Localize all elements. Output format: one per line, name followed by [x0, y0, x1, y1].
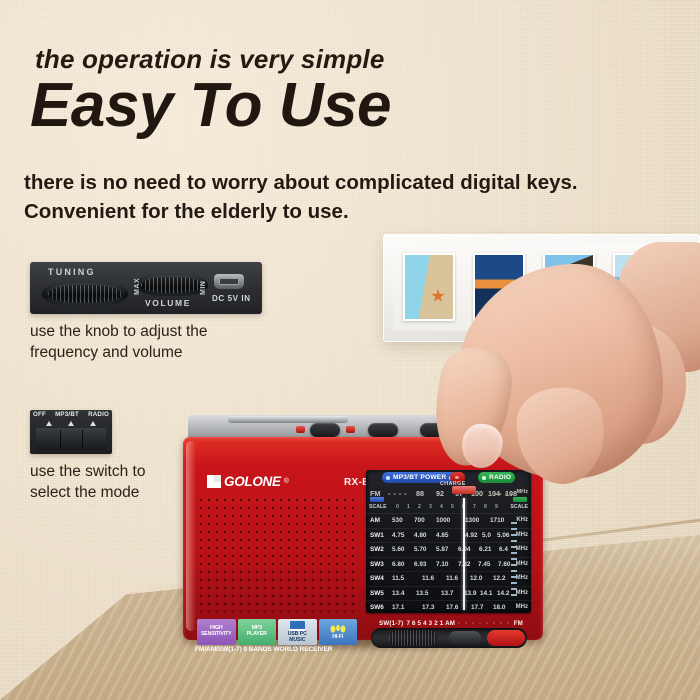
dc-power-port[interactable] — [214, 274, 244, 289]
band-value: 11.5 — [392, 575, 404, 582]
top-button-1[interactable] — [310, 423, 340, 437]
band-name: SW6 — [370, 604, 384, 611]
mode-switch-slider[interactable] — [36, 428, 106, 450]
band-value: 5.0 — [482, 532, 491, 539]
callout-knob-caption: use the knob to adjust the frequency and… — [30, 322, 280, 364]
band-value: 6.21 — [479, 546, 491, 553]
band-name: SW3 — [370, 561, 384, 568]
band-name: AM — [370, 517, 380, 524]
band-value: 5.87 — [436, 546, 448, 553]
badge-line-2: SENSITIVITY — [201, 632, 232, 638]
switch-tick-icon — [46, 421, 52, 426]
band-value: 5.70 — [414, 546, 426, 553]
band-value: 11.6 — [422, 575, 434, 582]
tuning-knob[interactable] — [42, 282, 128, 306]
switch-label-radio: RADIO — [88, 411, 109, 418]
band-selector-track[interactable] — [371, 628, 527, 648]
badge-line-1: HI-FI — [332, 635, 343, 641]
callout-mode-switch: OFF MP3/BT RADIO — [30, 410, 112, 454]
band-value: 13.7 — [441, 590, 453, 597]
band-name: SW1 — [370, 532, 384, 539]
band-name: SW2 — [370, 546, 384, 553]
selector-sw-label: SW(1-7) — [379, 620, 403, 627]
bt-led-icon — [386, 476, 390, 480]
band-value: 6.4 — [499, 546, 508, 553]
top-button-2[interactable] — [368, 423, 398, 437]
band-row: SW1 4.75 4.80 4.85 4.92 5.0 5.06 MHz — [366, 528, 531, 543]
volume-label: VOLUME — [145, 298, 191, 308]
band-value: 14.1 — [480, 590, 492, 597]
selector-positions: 7 6 5 4 3 2 1 AM — [406, 620, 455, 627]
body-line-1: there is no need to worry about complica… — [24, 168, 624, 197]
band-value: 17.6 — [446, 604, 458, 611]
band-row: SW6 17.1 17.3 17.6 17.7 18.0 MHz — [366, 600, 531, 613]
band-row: SW4 11.5 11.6 11.6 12.0 12.2 MHz — [366, 571, 531, 586]
selector-dots: · · · · · · · · — [458, 620, 511, 627]
scale-label-left: SCALE — [369, 504, 387, 510]
band-value: 17.7 — [471, 604, 483, 611]
switch-tick-icon — [68, 421, 74, 426]
band-value: 13.9 — [464, 590, 476, 597]
band-value: 5.06 — [497, 532, 509, 539]
badge-high-sensitivity: HIGH SENSITIVITY — [197, 619, 236, 645]
band-unit: MHz — [516, 546, 528, 552]
band-unit: MHz — [516, 604, 528, 610]
switch-tick-marks — [44, 421, 98, 427]
band-value: 7.45 — [478, 561, 490, 568]
antenna[interactable] — [228, 416, 348, 423]
badge-line-2: PLAYER — [247, 632, 267, 638]
scale-num-0: 0 — [396, 504, 399, 510]
top-led-right — [346, 426, 355, 433]
badge-usb-pc-music: USB PC MUSIC — [278, 619, 317, 645]
band-unit: MHz — [516, 575, 528, 581]
dc-in-label: DC 5V IN — [212, 294, 251, 303]
sound-wave-icon — [329, 623, 347, 634]
badge-line-2: MUSIC — [289, 638, 305, 644]
band-value: 4.80 — [414, 532, 426, 539]
band-unit: MHz — [516, 561, 528, 567]
band-value: 11.6 — [446, 575, 458, 582]
band-value: 7.60 — [498, 561, 510, 568]
brand-name: GOLONE — [224, 474, 281, 489]
band-value: 6.93 — [414, 561, 426, 568]
band-selector-scale: SW(1-7) 7 6 5 4 3 2 1 AM · · · · · · · ·… — [379, 618, 529, 628]
band-value: 4.75 — [392, 532, 404, 539]
band-value: 6.80 — [392, 561, 404, 568]
speaker-grille — [195, 494, 358, 612]
headline-body: there is no need to worry about complica… — [24, 168, 624, 226]
product-description-strip: FM/AM/SW(1-7) 9 BANDS WORLD RECEIVER — [195, 646, 375, 653]
band-name: SW4 — [370, 575, 384, 582]
band-value: 5.60 — [392, 546, 404, 553]
headline-title: Easy To Use — [30, 75, 391, 137]
switch-position-labels: OFF MP3/BT RADIO — [30, 411, 112, 418]
band-row: SW2 5.60 5.70 5.87 6.04 6.21 6.4 MHz — [366, 542, 531, 557]
band-value: 14.2 — [497, 590, 509, 597]
switch-tick-icon — [90, 421, 96, 426]
band-value: 17.1 — [392, 604, 404, 611]
band-value: 18.0 — [493, 604, 505, 611]
registered-mark: ® — [284, 478, 289, 485]
knob-caption-line-1: use the knob to adjust the — [30, 322, 280, 343]
body-line-2: Convenient for the elderly to use. — [24, 197, 624, 226]
band-value: 4.85 — [436, 532, 448, 539]
hand-pressing-button — [400, 228, 700, 528]
selector-fm-label: FM — [514, 620, 523, 627]
band-value: 17.3 — [422, 604, 434, 611]
band-selector-red-segment[interactable] — [487, 630, 525, 646]
feature-badges: HIGH SENSITIVITY MP3 PLAYER USB PC MUSIC… — [197, 619, 357, 645]
volume-max-label: MAX — [134, 278, 141, 295]
brand-logo: GOLONE ® — [207, 474, 289, 489]
band-selector-knob[interactable] — [389, 630, 437, 646]
band-value: 13.4 — [392, 590, 404, 597]
volume-min-label: MIN — [200, 281, 207, 295]
band-row: SW3 6.80 6.93 7.10 7.32 7.45 7.60 MHz — [366, 557, 531, 572]
band-value: 7.10 — [436, 561, 448, 568]
badge-mp3-player: MP3 PLAYER — [238, 619, 277, 645]
band-selector-knob-secondary[interactable] — [449, 631, 481, 645]
band-unit: MHz — [516, 532, 528, 538]
brand-mark-icon — [207, 475, 221, 488]
band-name: SW5 — [370, 590, 384, 597]
signal-bars-icon — [511, 522, 517, 597]
tuning-label: TUNING — [48, 267, 96, 277]
band-value: 13.5 — [416, 590, 428, 597]
band-value: 12.0 — [470, 575, 482, 582]
callout-knob-panel: TUNING MAX VOLUME MIN DC 5V IN — [30, 262, 262, 314]
band-value: 4.92 — [465, 532, 477, 539]
switch-label-off: OFF — [33, 411, 46, 418]
volume-knob[interactable] — [136, 274, 208, 296]
knob-caption-line-2: frequency and volume — [30, 343, 280, 364]
badge-hifi: HI-FI — [319, 619, 358, 645]
band-value: 12.2 — [493, 575, 505, 582]
left-led-strip — [370, 497, 384, 502]
band-unit: MHz — [516, 590, 528, 596]
switch-label-mp3bt: MP3/BT — [55, 411, 79, 418]
top-led-left — [296, 426, 305, 433]
laptop-icon — [290, 621, 305, 631]
band-row: SW5 13.4 13.5 13.7 13.9 14.1 14.2 MHz — [366, 586, 531, 601]
